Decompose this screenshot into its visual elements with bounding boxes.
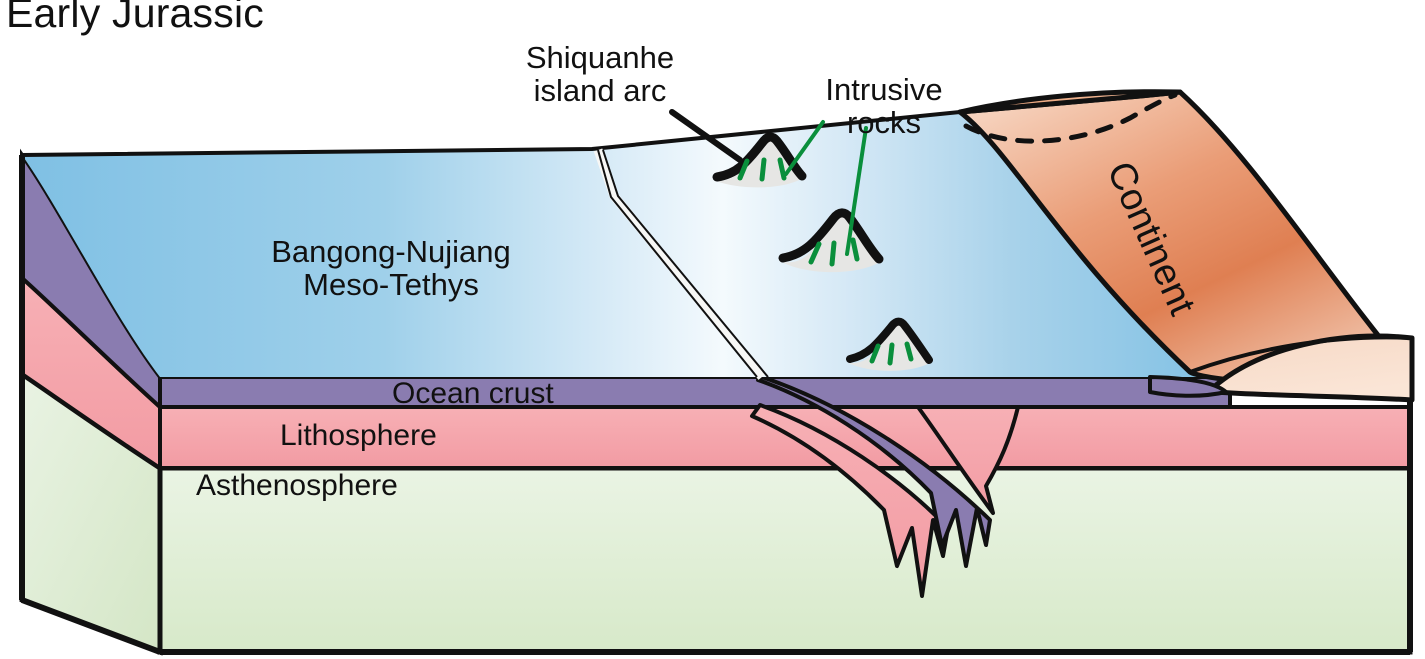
block-diagram-svg (0, 0, 1425, 659)
label-ocean-crust: Ocean crust (392, 378, 554, 410)
page-title: Early Jurassic (6, 0, 264, 35)
figure-canvas: Early Jurassic Shiquanhe island arc Intr… (0, 0, 1425, 659)
ocean-crust-front-face (160, 377, 1230, 407)
label-lithosphere: Lithosphere (280, 420, 437, 452)
label-intrusive-rocks: Intrusive rocks (800, 74, 968, 140)
label-bangong-nujiang-meso-tethys: Bangong-Nujiang Meso-Tethys (196, 236, 586, 302)
label-shiquanhe-island-arc: Shiquanhe island arc (490, 42, 710, 108)
label-asthenosphere: Asthenosphere (196, 470, 398, 502)
